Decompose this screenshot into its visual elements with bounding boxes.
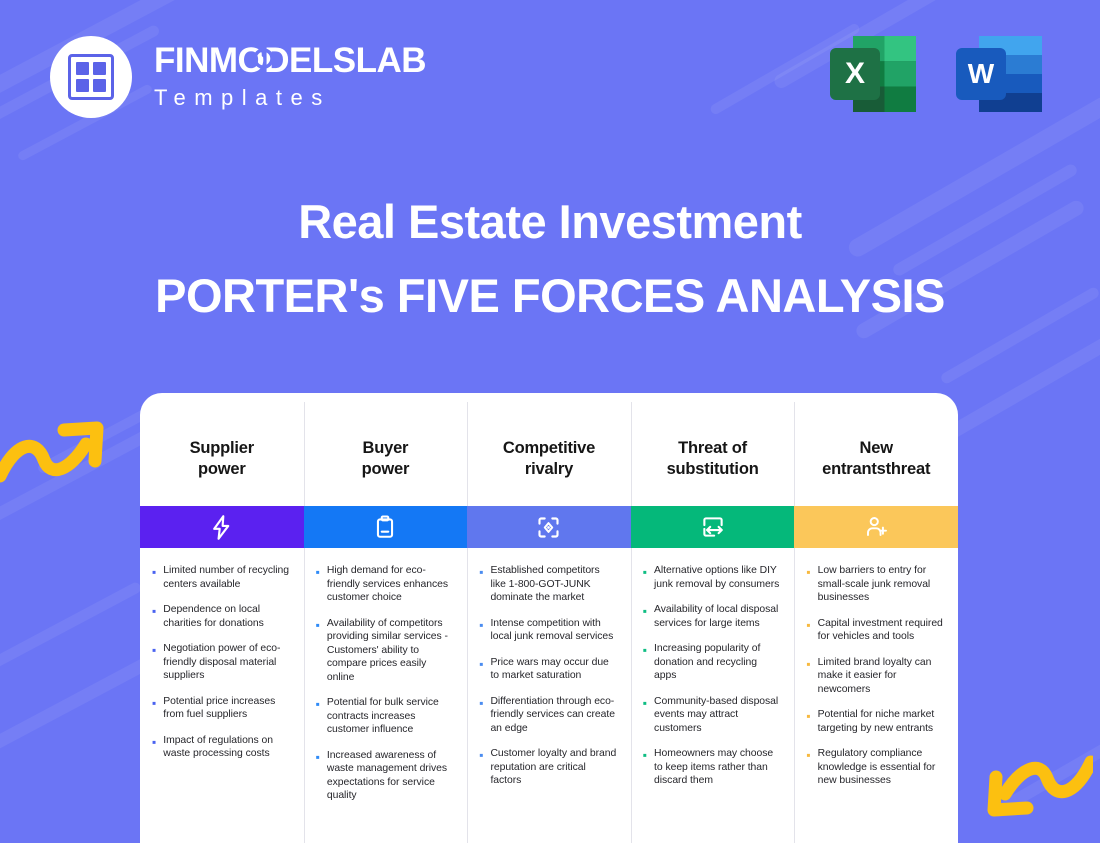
list-item: ▪ Low barriers to entry for small-scale … — [806, 564, 944, 605]
column-new-entrants-threat: Newentrantsthreat ▪ Low barriers to entr… — [794, 393, 958, 843]
brush-stroke — [0, 424, 161, 528]
bullet-marker: ▪ — [806, 709, 810, 735]
app-icon-group: X W — [824, 28, 1048, 120]
list-item: ▪Increased awareness of waste management… — [316, 749, 454, 803]
bullet-marker: ▪ — [643, 643, 647, 683]
svg-text:X: X — [845, 57, 865, 90]
bullet-text: Limited number of recycling centers avai… — [163, 564, 289, 591]
column-title: Competitiverivalry — [503, 438, 595, 479]
bullet-text: Negotiation power of eco-friendly dispos… — [163, 642, 289, 683]
bullet-marker: ▪ — [316, 618, 320, 685]
excel-icon: X — [824, 28, 922, 120]
squiggle-arrow-up-right-icon — [0, 408, 123, 488]
list-item: ▪Potential for niche market targeting by… — [806, 708, 944, 735]
bullet-list: ▪ Limited number of recycling centers av… — [140, 548, 304, 761]
brand-logo: FINMODELSLAB Templates — [50, 36, 426, 118]
band-new-entrants-threat — [794, 506, 958, 548]
list-item: ▪Differentiation through eco-friendly se… — [479, 695, 617, 736]
bullet-marker: ▪ — [152, 565, 156, 591]
bullet-text: Availability of competitors providing si… — [327, 617, 453, 685]
band-competitive-rivalry — [467, 506, 631, 548]
list-item: ▪ Limited number of recycling centers av… — [152, 564, 290, 591]
bullet-marker: ▪ — [806, 657, 810, 697]
column-supplier-power: Supplierpower ▪ Limited number of recycl… — [140, 393, 304, 843]
list-item: ▪Availability of competitors providing s… — [316, 617, 454, 685]
column-buyer-power: Buyerpower ▪ High demand for eco-friendl… — [304, 393, 468, 843]
bullet-text: Differentiation through eco-friendly ser… — [490, 695, 616, 736]
bullet-text: Limited brand loyalty can make it easier… — [818, 656, 944, 697]
bullet-text: Potential for bulk service contracts inc… — [327, 696, 453, 737]
bullet-text: Alternative options like DIY junk remova… — [654, 564, 780, 591]
bullet-text: Potential for niche market targeting by … — [818, 708, 944, 735]
bullet-text: Customer loyalty and brand reputation ar… — [490, 747, 616, 788]
column-header: Competitiverivalry — [467, 438, 631, 506]
column-competitive-rivalry: Competitiverivalry ▪Established competit… — [467, 393, 631, 843]
list-item: ▪Price wars may occur due to market satu… — [479, 656, 617, 683]
squiggle-arrow-down-left-icon — [968, 750, 1093, 830]
band-supplier-power — [140, 506, 304, 548]
bullet-text: Price wars may occur due to market satur… — [490, 656, 616, 683]
column-title: Threat ofsubstitution — [667, 438, 759, 479]
column-title: Buyerpower — [362, 438, 410, 479]
column-title: Newentrantsthreat — [822, 438, 930, 479]
column-header: Buyerpower — [304, 438, 468, 506]
bullet-text: Impact of regulations on waste processin… — [163, 734, 289, 761]
exchange-arrows-icon — [699, 513, 727, 541]
list-item: ▪Negotiation power of eco-friendly dispo… — [152, 642, 290, 683]
bullet-marker: ▪ — [643, 748, 647, 788]
list-item: ▪Regulatory compliance knowledge is esse… — [806, 747, 944, 788]
list-item: ▪ Alternative options like DIY junk remo… — [643, 564, 781, 591]
list-item: ▪Impact of regulations on waste processi… — [152, 734, 290, 761]
page-subtitle: Real Estate Investment — [0, 196, 1100, 248]
bullet-text: Community-based disposal events may attr… — [654, 695, 780, 736]
list-item: ▪Community-based disposal events may att… — [643, 695, 781, 736]
page-title: PORTER's FIVE FORCES ANALYSIS — [0, 270, 1100, 322]
bullet-marker: ▪ — [479, 696, 483, 736]
list-item: ▪Intense competition with local junk rem… — [479, 617, 617, 644]
bullet-marker: ▪ — [152, 735, 156, 761]
list-item: ▪Potential for bulk service contracts in… — [316, 696, 454, 737]
page-header: FINMODELSLAB Templates X — [0, 0, 1100, 150]
column-header: Newentrantsthreat — [794, 438, 958, 506]
logo-circle — [50, 36, 132, 118]
brand-subtitle: Templates — [154, 85, 426, 111]
list-item: ▪Potential price increases from fuel sup… — [152, 695, 290, 722]
bullet-text: Increasing popularity of donation and re… — [654, 642, 780, 683]
bullet-marker: ▪ — [152, 604, 156, 630]
bullet-marker: ▪ — [316, 750, 320, 803]
bullet-marker: ▪ — [643, 696, 647, 736]
bullet-text: Low barriers to entry for small-scale ju… — [818, 564, 944, 605]
column-title: Supplierpower — [190, 438, 254, 479]
forces-columns: Supplierpower ▪ Limited number of recycl… — [140, 393, 958, 843]
focus-target-icon — [535, 514, 562, 541]
bullet-marker: ▪ — [152, 643, 156, 683]
brush-stroke — [0, 581, 143, 671]
title-block: Real Estate Investment PORTER's FIVE FOR… — [0, 196, 1100, 321]
bullet-marker: ▪ — [479, 748, 483, 788]
bullet-marker: ▪ — [806, 565, 810, 605]
user-plus-icon — [863, 514, 889, 540]
list-item: ▪Increasing popularity of donation and r… — [643, 642, 781, 683]
lightning-bolt-icon — [208, 514, 235, 541]
list-item: ▪Homeowners may choose to keep items rat… — [643, 747, 781, 788]
list-item: ▪ High demand for eco-friendly services … — [316, 564, 454, 605]
band-threat-of-substitution — [631, 506, 795, 548]
bullet-marker: ▪ — [643, 565, 647, 591]
bullet-text: Dependence on local charities for donati… — [163, 603, 289, 630]
bullet-marker: ▪ — [479, 657, 483, 683]
brush-stroke — [0, 651, 161, 761]
porters-five-forces-card: Supplierpower ▪ Limited number of recycl… — [140, 393, 958, 843]
bullet-text: Increased awareness of waste management … — [327, 749, 453, 803]
svg-text:W: W — [968, 58, 995, 89]
list-item: ▪Availability of local disposal services… — [643, 603, 781, 630]
bullet-marker: ▪ — [479, 565, 483, 605]
power-o-icon — [251, 45, 276, 70]
bullet-marker: ▪ — [806, 748, 810, 788]
bullet-text: Availability of local disposal services … — [654, 603, 780, 630]
brand-text: FINMODELSLAB Templates — [154, 43, 426, 111]
list-item: ▪Limited brand loyalty can make it easie… — [806, 656, 944, 697]
brush-stroke — [990, 713, 1100, 818]
column-header: Supplierpower — [140, 438, 304, 506]
bullet-marker: ▪ — [479, 618, 483, 644]
bullet-text: Regulatory compliance knowledge is essen… — [818, 747, 944, 788]
list-item: ▪Established competitors like 1-800-GOT-… — [479, 564, 617, 605]
word-icon: W — [950, 28, 1048, 120]
bullet-marker: ▪ — [643, 604, 647, 630]
bullet-marker: ▪ — [152, 696, 156, 722]
list-item: ▪Dependence on local charities for donat… — [152, 603, 290, 630]
brand-name: FINMODELSLAB — [154, 43, 426, 78]
column-threat-of-substitution: Threat ofsubstitution ▪ Alternative opti… — [631, 393, 795, 843]
bullet-text: Established competitors like 1-800-GOT-J… — [490, 564, 616, 605]
grid-icon — [68, 54, 114, 100]
clipboard-icon — [372, 514, 398, 540]
bullet-marker: ▪ — [316, 697, 320, 737]
bullet-text: Capital investment required for vehicles… — [818, 617, 944, 644]
bullet-marker: ▪ — [316, 565, 320, 605]
column-header: Threat ofsubstitution — [631, 438, 795, 506]
list-item: ▪Capital investment required for vehicle… — [806, 617, 944, 644]
list-item: ▪Customer loyalty and brand reputation a… — [479, 747, 617, 788]
bullet-text: Potential price increases from fuel supp… — [163, 695, 289, 722]
band-buyer-power — [304, 506, 468, 548]
bullet-list: ▪ High demand for eco-friendly services … — [304, 548, 468, 803]
bullet-marker: ▪ — [806, 618, 810, 644]
bullet-list: ▪ Low barriers to entry for small-scale … — [794, 548, 958, 788]
bullet-text: Intense competition with local junk remo… — [490, 617, 616, 644]
bullet-text: High demand for eco-friendly services en… — [327, 564, 453, 605]
brand-name-label: FINMODELSLAB — [154, 41, 426, 80]
bullet-list: ▪ Alternative options like DIY junk remo… — [631, 548, 795, 788]
bullet-list: ▪Established competitors like 1-800-GOT-… — [467, 548, 631, 788]
bullet-text: Homeowners may choose to keep items rath… — [654, 747, 780, 788]
